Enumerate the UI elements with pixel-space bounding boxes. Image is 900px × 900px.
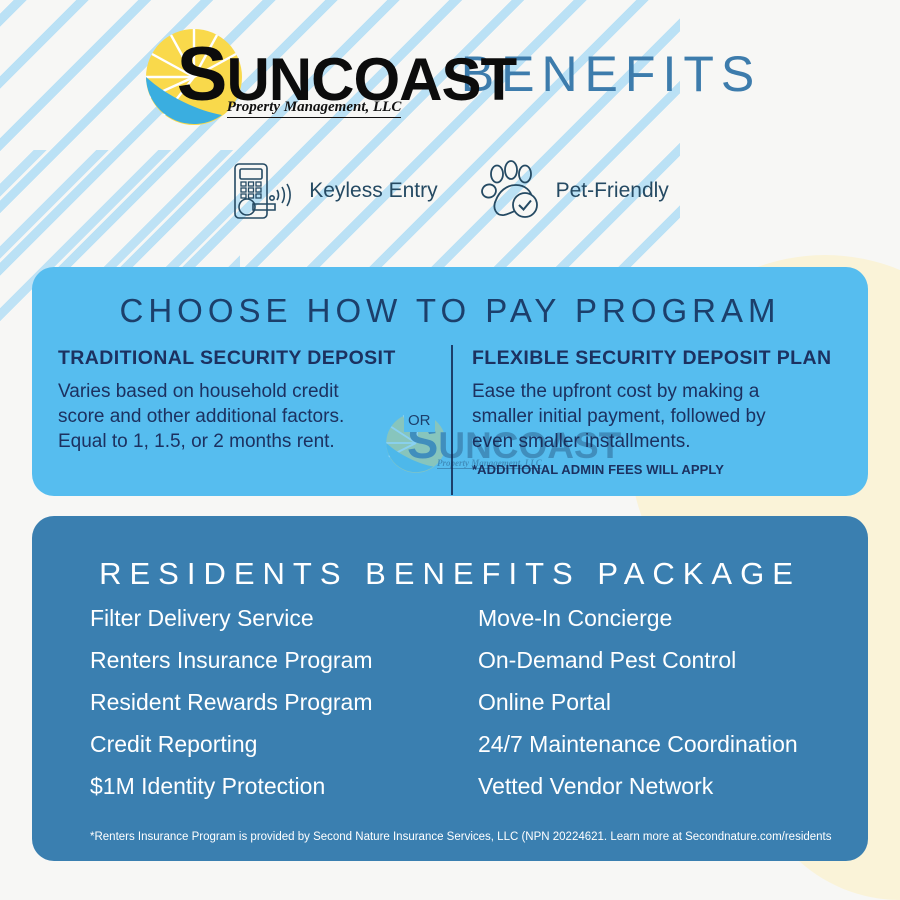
residents-benefits-package-card: RESIDENTS BENEFITS PACKAGE Filter Delive…: [32, 516, 868, 861]
logo-subtitle: Property Management, LLC: [227, 99, 402, 118]
infographic-page: SUNCOAST Property Management, LLC BENEFI…: [0, 0, 900, 900]
suncoast-logo: SUNCOAST Property Management, LLC: [139, 19, 439, 129]
pay-option-traditional-heading: TRADITIONAL SECURITY DEPOSIT: [58, 347, 418, 370]
choose-how-to-pay-card: CHOOSE HOW TO PAY PROGRAM TRADITIONAL SE…: [32, 267, 868, 496]
page-header: SUNCOAST Property Management, LLC BENEFI…: [0, 14, 900, 134]
list-item: Credit Reporting: [90, 733, 422, 756]
list-item: Online Portal: [478, 691, 868, 714]
feature-keyless-entry: Keyless Entry: [231, 160, 437, 222]
logo-word-first: S: [177, 32, 227, 117]
pay-option-traditional: TRADITIONAL SECURITY DEPOSIT Varies base…: [58, 347, 418, 454]
pay-options-divider: [451, 345, 453, 495]
pay-traditional-line-2: score and other additional factors.: [58, 404, 418, 429]
pay-options-or-label: OR: [404, 409, 435, 432]
pay-flexible-line-1: Ease the upfront cost by making a: [472, 379, 848, 404]
list-item: 24/7 Maintenance Coordination: [478, 733, 868, 756]
feature-icons-row: Keyless Entry Pet-Friendly: [0, 160, 900, 222]
pay-flexible-line-2: smaller initial payment, followed by: [472, 404, 848, 429]
pay-option-flexible-body: Ease the upfront cost by making a smalle…: [472, 379, 848, 454]
list-item: Resident Rewards Program: [90, 691, 422, 714]
list-item: Move-In Concierge: [478, 607, 868, 630]
pay-option-flexible-heading: FLEXIBLE SECURITY DEPOSIT PLAN: [472, 347, 848, 370]
pay-program-columns: TRADITIONAL SECURITY DEPOSIT Varies base…: [32, 347, 868, 496]
pay-flexible-admin-fee-note: *ADDITIONAL ADMIN FEES WILL APPLY: [472, 462, 848, 477]
list-item: Filter Delivery Service: [90, 607, 422, 630]
list-item: On-Demand Pest Control: [478, 649, 868, 672]
feature-pet-friendly: Pet-Friendly: [480, 160, 669, 222]
list-item: Renters Insurance Program: [90, 649, 422, 672]
pay-traditional-line-1: Varies based on household credit: [58, 379, 418, 404]
residents-benefits-package-title: RESIDENTS BENEFITS PACKAGE: [32, 556, 868, 592]
pay-program-title: CHOOSE HOW TO PAY PROGRAM: [32, 292, 868, 330]
benefits-columns: Filter Delivery Service Renters Insuranc…: [32, 607, 868, 817]
pay-traditional-line-3: Equal to 1, 1.5, or 2 months rent.: [58, 429, 418, 454]
paw-check-icon: [480, 160, 550, 222]
benefits-column-right: Move-In Concierge On-Demand Pest Control…: [422, 607, 868, 817]
pay-option-traditional-body: Varies based on household credit score a…: [58, 379, 418, 454]
benefits-column-left: Filter Delivery Service Renters Insuranc…: [32, 607, 422, 817]
feature-label-keyless-entry: Keyless Entry: [309, 179, 437, 203]
list-item: $1M Identity Protection: [90, 775, 422, 798]
feature-label-pet-friendly: Pet-Friendly: [556, 179, 669, 203]
benefits-footnote: *Renters Insurance Program is provided b…: [90, 831, 850, 843]
keypad-lock-icon: [231, 160, 303, 222]
pay-flexible-line-3: even smaller installments.: [472, 429, 848, 454]
pay-option-flexible: FLEXIBLE SECURITY DEPOSIT PLAN Ease the …: [472, 347, 848, 477]
list-item: Vetted Vendor Network: [478, 775, 868, 798]
